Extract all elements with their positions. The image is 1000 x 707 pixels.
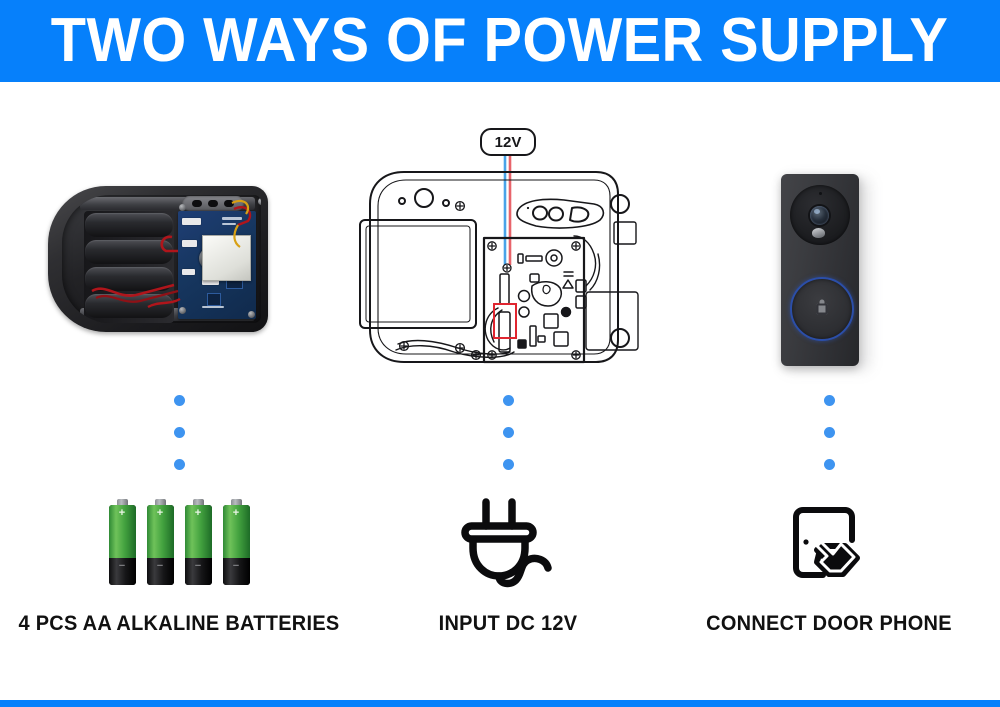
caption-dc-input: INPUT DC 12V xyxy=(366,612,651,636)
voltage-badge: 12V xyxy=(480,128,536,156)
dot xyxy=(174,427,185,438)
battery-cell: + − xyxy=(185,499,212,585)
power-option-dc-input: 12V xyxy=(358,100,658,660)
dc-wiring-diagram: 12V xyxy=(358,100,658,390)
battery-plus-label: + xyxy=(119,508,125,519)
battery-compartment-photo xyxy=(0,100,358,390)
dot xyxy=(503,459,514,470)
battery-plus-label: + xyxy=(157,508,163,519)
battery-minus-label: − xyxy=(119,561,125,572)
bell-glyph-icon xyxy=(817,304,828,315)
dot xyxy=(824,459,835,470)
dot xyxy=(174,459,185,470)
battery-cell: + − xyxy=(147,499,174,585)
page-title: TWO WAYS OF POWER SUPPLY xyxy=(51,10,949,72)
power-plug-icon xyxy=(358,492,658,592)
caption-batteries: 4 PCS AA ALKALINE BATTERIES xyxy=(9,612,349,636)
battery-cell: + − xyxy=(109,499,136,585)
battery-cell: + − xyxy=(223,499,250,585)
battery-minus-label: − xyxy=(157,561,163,572)
power-option-batteries: + − + − + − xyxy=(0,100,358,660)
caption-door-phone: CONNECT DOOR PHONE xyxy=(667,612,992,636)
motion-sensor xyxy=(812,228,825,238)
battery-plus-label: + xyxy=(233,508,239,519)
voltage-label: 12V xyxy=(495,134,522,151)
battery-plus-label: + xyxy=(195,508,201,519)
power-option-door-phone: CONNECT DOOR PHONE xyxy=(658,100,1000,660)
device-housing xyxy=(48,186,268,332)
dot xyxy=(503,427,514,438)
battery-minus-label: − xyxy=(233,561,239,572)
camera-plate xyxy=(790,185,850,245)
tap-phone-icon xyxy=(658,492,1000,592)
connector-dots xyxy=(358,395,658,491)
connector-dots xyxy=(0,395,358,491)
footer-strip xyxy=(0,700,1000,707)
dot xyxy=(174,395,185,406)
connector-dots xyxy=(658,395,1000,491)
doorbell-button[interactable] xyxy=(790,277,854,341)
dot xyxy=(824,427,835,438)
dot xyxy=(503,395,514,406)
housing-interior xyxy=(62,195,261,323)
microphone-hole xyxy=(819,192,822,195)
header-banner: TWO WAYS OF POWER SUPPLY xyxy=(0,0,1000,82)
video-doorbell-photo xyxy=(658,100,1000,390)
battery-minus-label: − xyxy=(195,561,201,572)
wire-harness xyxy=(62,195,261,323)
dot xyxy=(824,395,835,406)
aa-battery-icon: + − + − + − xyxy=(0,492,358,592)
doorbell-body xyxy=(781,174,859,366)
camera-lens xyxy=(810,206,829,225)
